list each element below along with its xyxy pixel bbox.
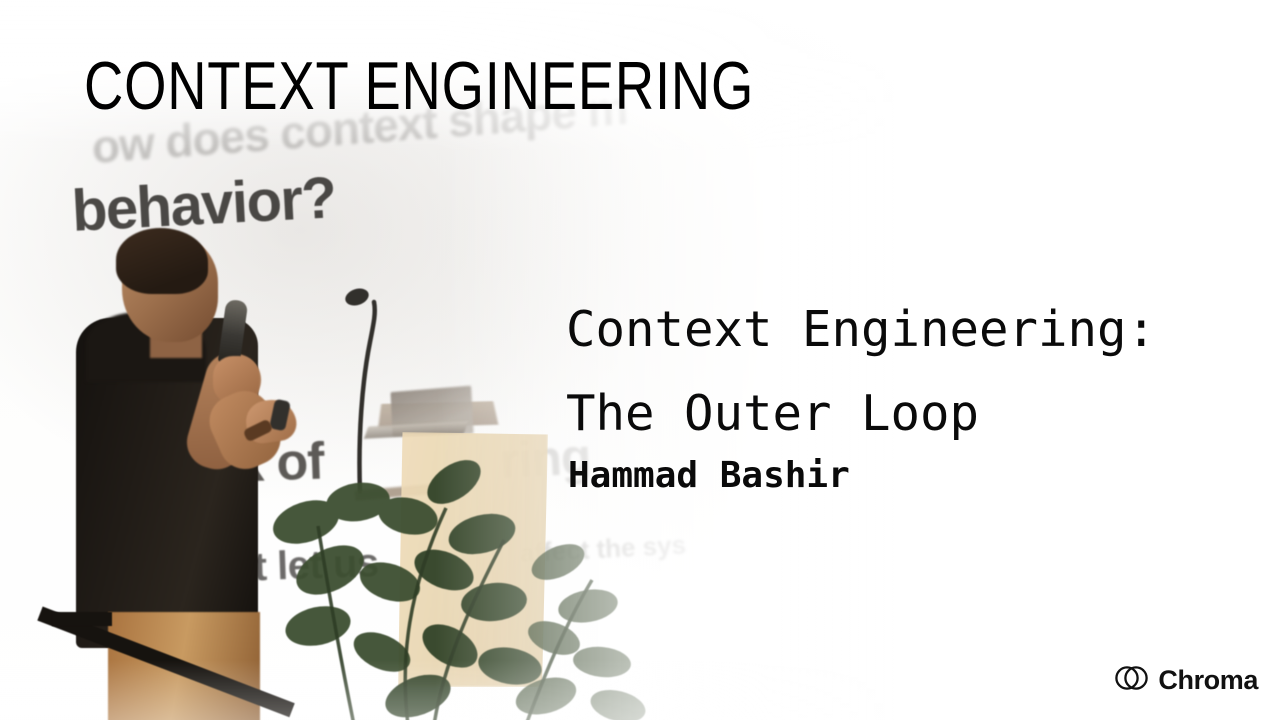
title-block: Context Engineering: The Outer Loop xyxy=(566,288,1206,456)
speaker-name: Hammad Bashir xyxy=(568,454,850,498)
brand-lockup: Chroma xyxy=(1115,663,1258,698)
speaker-hair xyxy=(116,228,208,294)
chroma-logo-icon xyxy=(1115,663,1149,698)
slide-text-fragment-2: behavior? xyxy=(70,164,337,245)
page-title-line-2: The Outer Loop xyxy=(566,372,1206,456)
chroma-wordmark: Chroma xyxy=(1158,667,1258,694)
stage-railing-post xyxy=(52,612,112,626)
eyebrow-heading: CONTEXT ENGINEERING xyxy=(84,52,754,120)
slide-canvas: ow does context shape m behavior? ark of… xyxy=(0,0,1280,720)
page-title-line-1: Context Engineering: xyxy=(566,288,1206,372)
